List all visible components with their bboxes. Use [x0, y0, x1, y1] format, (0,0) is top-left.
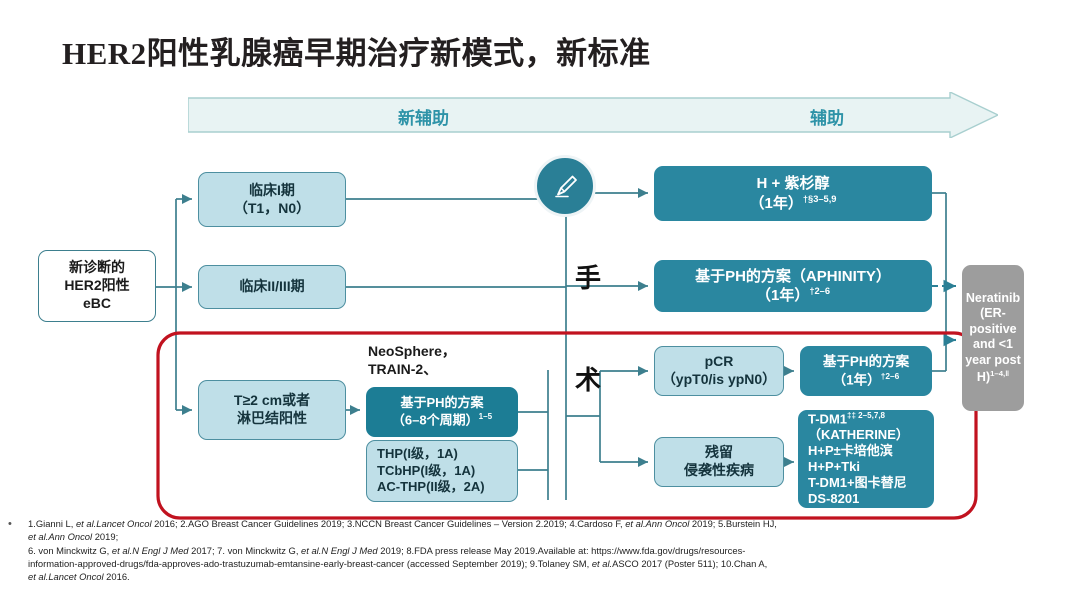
node-residual-line1: 残留: [684, 444, 754, 462]
node-residual-invasive-disease[interactable]: 残留 侵袭性疾病: [654, 437, 784, 487]
node-katherine-regimens[interactable]: T-DM1‡‡ 2–5,7,8 （KATHERINE） H+P±卡培他滨 H+P…: [798, 410, 934, 508]
node-regimens-line3: AC-THP(II级，2A): [377, 479, 485, 496]
footnote-line-4: information-approved-drugs/fda-approves-…: [28, 557, 1068, 570]
node-aphinity-line1: 基于PH的方案（APHINITY）: [695, 267, 891, 286]
node-neratinib[interactable]: Neratinib (ER- positive and <1 year post…: [962, 265, 1024, 411]
label-trial-line2: TRAIN-2、: [368, 360, 528, 378]
node-katherine-line2: （KATHERINE）: [808, 427, 909, 443]
node-ph-based-aphinity[interactable]: 基于PH的方案（APHINITY） （1年）†2–6: [654, 260, 932, 312]
node-htaxol-line2: （1年）: [750, 195, 803, 212]
node-neratinib-line6: H): [977, 370, 990, 384]
node-regimens-line2: TCbHP(I级，1A): [377, 463, 485, 480]
node-h-plus-paclitaxel[interactable]: H + 紫杉醇 （1年）†§3–5,9: [654, 166, 932, 221]
node-pcr[interactable]: pCR （ypT0/is ypN0）: [654, 346, 784, 396]
node-ph-neo-line2: （6–8个周期）: [392, 412, 479, 427]
surgery-char-bottom: 术: [573, 360, 603, 397]
node-aphinity-ref: †2–6: [809, 286, 830, 296]
node-katherine-line5: T-DM1+图卡替尼: [808, 475, 909, 491]
node-residual-line2: 侵袭性疾病: [684, 462, 754, 480]
footnote-line-3: 6. von Minckwitz G, et al.N Engl J Med 2…: [28, 544, 1068, 557]
node-katherine-line4: H+P+Tki: [808, 459, 909, 475]
footnote-references: 1.Gianni L, et al.Lancet Oncol 2016; 2.A…: [28, 517, 1068, 584]
footnote-line-5: et al.Lancet Oncol 2016.: [28, 570, 1068, 583]
node-tsize-line2: 淋巴结阳性: [234, 410, 310, 428]
node-neratinib-line2: (ER-: [965, 306, 1021, 322]
node-clinical-stage-2-3[interactable]: 临床II/III期: [198, 265, 346, 309]
node-tsize-line1: T≥2 cm或者: [234, 392, 310, 410]
node-pcr-line2: （ypT0/is ypN0）: [662, 371, 776, 389]
node-htaxol-ref: †§3–5,9: [803, 194, 837, 204]
node-clinical-stage-1[interactable]: 临床I期 （T1，N0）: [198, 172, 346, 227]
node-aphinity-line2: （1年）: [756, 287, 809, 304]
node-ph-based-adjuvant[interactable]: 基于PH的方案 （1年）†2–6: [800, 346, 932, 396]
node-stage1-line2: （T1，N0）: [234, 200, 310, 218]
node-stage23-line1: 临床II/III期: [239, 278, 304, 296]
node-ebc-line2: HER2阳性: [64, 277, 129, 295]
node-htaxol-line1: H + 紫杉醇: [750, 174, 837, 193]
node-neratinib-ref: 1–4,‖: [990, 369, 1009, 378]
node-tumor-size-or-node-positive[interactable]: T≥2 cm或者 淋巴结阳性: [198, 380, 346, 440]
node-ph-adj-ref: †2–6: [881, 371, 900, 381]
node-neratinib-line1: Neratinib: [965, 291, 1021, 307]
node-katherine-line6: DS-8201: [808, 491, 909, 507]
surgery-char-top: 手: [573, 258, 603, 295]
node-neratinib-line3: positive: [965, 322, 1021, 338]
node-new-diagnosed-ebc[interactable]: 新诊断的 HER2阳性 eBC: [38, 250, 156, 322]
node-katherine-ref: ‡‡ 2–5,7,8: [847, 411, 885, 420]
banner-label-adjuvant: 辅助: [810, 104, 844, 129]
node-ebc-line3: eBC: [64, 295, 129, 313]
node-neratinib-line4: and <1: [965, 337, 1021, 353]
footnote-line-1: 1.Gianni L, et al.Lancet Oncol 2016; 2.A…: [28, 517, 1068, 530]
node-neoadjuvant-regimens[interactable]: THP(I级，1A) TCbHP(I级，1A) AC-THP(II级，2A): [366, 440, 518, 502]
node-katherine-line3: H+P±卡培他滨: [808, 443, 909, 459]
footnote-marker: •: [8, 518, 12, 530]
page-title: HER2阳性乳腺癌早期治疗新模式，新标准: [62, 28, 651, 73]
node-ph-based-neoadjuvant[interactable]: 基于PH的方案 （6–8个周期）1–5: [366, 387, 518, 437]
node-ph-adj-line2: （1年）: [833, 372, 881, 387]
node-stage1-line1: 临床I期: [234, 182, 310, 200]
node-pcr-line1: pCR: [662, 353, 776, 371]
footnote-line-2: et al.Ann Oncol 2019;: [28, 530, 1068, 543]
node-katherine-line1: T-DM1: [808, 411, 847, 426]
node-regimens-line1: THP(I级，1A): [377, 446, 485, 463]
node-ebc-line1: 新诊断的: [64, 259, 129, 277]
scalpel-icon: [534, 155, 596, 217]
phase-banner: [188, 92, 998, 138]
node-neratinib-line5: year post: [965, 353, 1021, 369]
banner-label-neoadjuvant: 新辅助: [398, 104, 449, 129]
node-ph-adj-line1: 基于PH的方案: [823, 353, 909, 370]
label-trial-line1: NeoSphere，: [368, 342, 528, 360]
node-ph-neo-line1: 基于PH的方案: [392, 395, 492, 412]
node-ph-neo-ref: 1–5: [479, 412, 492, 421]
label-trial-names: NeoSphere， TRAIN-2、: [368, 342, 528, 378]
